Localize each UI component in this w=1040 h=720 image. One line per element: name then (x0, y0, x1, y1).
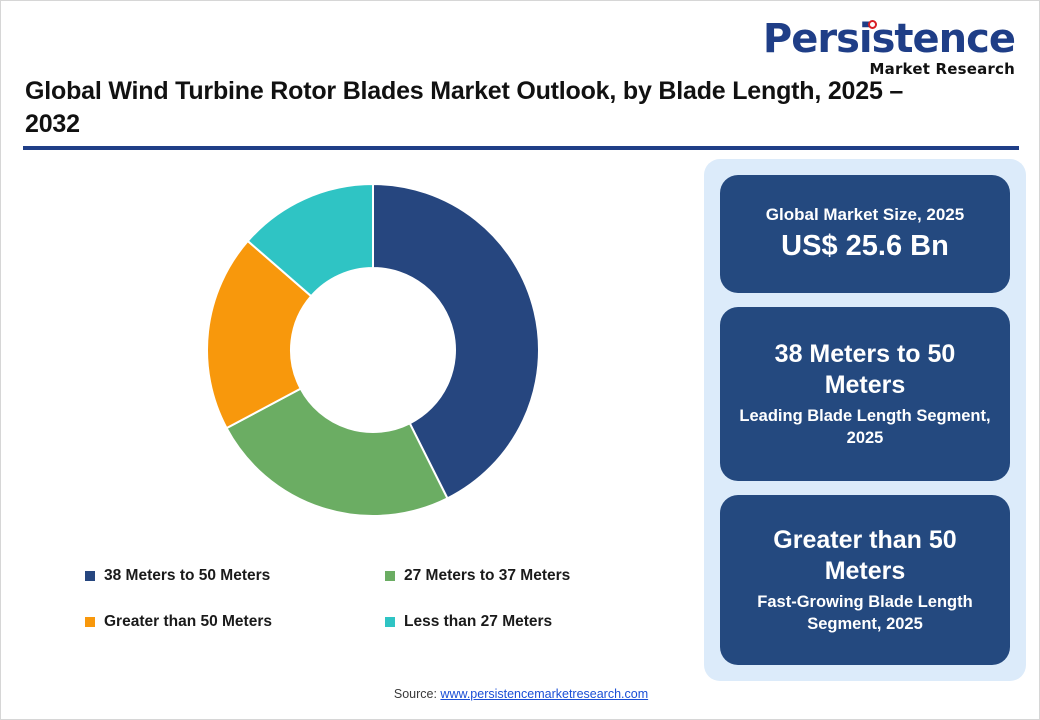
legend-swatch-green (385, 571, 395, 581)
legend-item-greater-than-50[interactable]: Greater than 50 Meters (85, 613, 385, 631)
legend-swatch-navy (85, 571, 95, 581)
stat-card-value: US$ 25.6 Bn (781, 229, 949, 264)
source-line: Source: www.persistencemarketresearch.co… (1, 687, 1040, 701)
title-divider (23, 146, 1019, 150)
donut-chart-svg (61, 161, 681, 561)
brand-name: Persistence (763, 19, 1015, 59)
page-title: Global Wind Turbine Rotor Blades Market … (25, 75, 945, 141)
stat-card-subtext: Fast-Growing Blade Length Segment, 2025 (720, 592, 1010, 634)
legend-item-27-to-37[interactable]: 27 Meters to 37 Meters (385, 567, 685, 585)
donut-chart (61, 161, 681, 561)
stat-card-headline: 38 Meters to 50 Meters (720, 339, 1010, 400)
legend-label: Less than 27 Meters (404, 613, 552, 631)
legend-label: 27 Meters to 37 Meters (404, 567, 570, 585)
chart-legend: 38 Meters to 50 Meters 27 Meters to 37 M… (85, 567, 685, 631)
brand-name-text: Persistence (763, 16, 1015, 62)
stat-card-leading-segment: 38 Meters to 50 Meters Leading Blade Len… (720, 307, 1010, 481)
legend-swatch-teal (385, 617, 395, 627)
source-prefix: Source: (394, 687, 441, 701)
donut-slice-group (207, 184, 539, 516)
stat-card-market-size: Global Market Size, 2025 US$ 25.6 Bn (720, 175, 1010, 293)
brand-logo: Persistence Market Research (763, 19, 1015, 77)
stats-panel: Global Market Size, 2025 US$ 25.6 Bn 38 … (704, 159, 1026, 681)
stat-card-fast-growing-segment: Greater than 50 Meters Fast-Growing Blad… (720, 495, 1010, 665)
stat-card-subtext: Leading Blade Length Segment, 2025 (720, 406, 1010, 448)
legend-item-38-to-50[interactable]: 38 Meters to 50 Meters (85, 567, 385, 585)
legend-label: 38 Meters to 50 Meters (104, 567, 270, 585)
stat-card-headline: Greater than 50 Meters (720, 525, 1010, 586)
legend-swatch-orange (85, 617, 95, 627)
legend-item-less-than-27[interactable]: Less than 27 Meters (385, 613, 685, 631)
stat-card-label: Global Market Size, 2025 (766, 204, 964, 225)
legend-label: Greater than 50 Meters (104, 613, 272, 631)
logo-dot-icon (868, 20, 877, 29)
source-url-link[interactable]: www.persistencemarketresearch.com (440, 687, 648, 701)
infographic-page: Persistence Market Research Global Wind … (0, 0, 1040, 720)
